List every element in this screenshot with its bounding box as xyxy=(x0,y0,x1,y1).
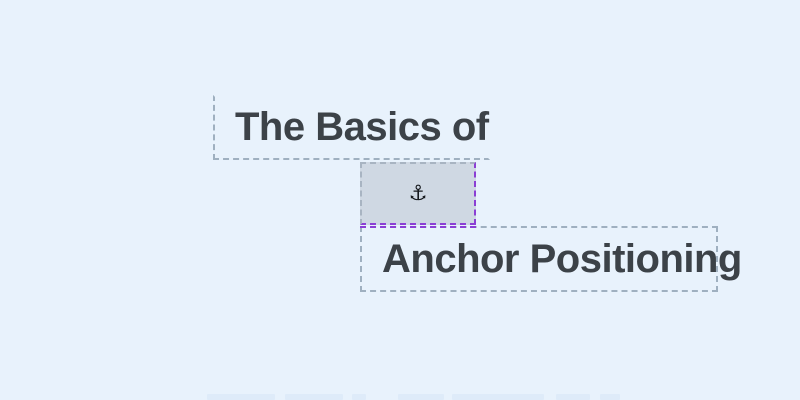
slide-canvas: The Basics of ⚓ Anchor Positioning xyxy=(0,0,800,400)
anchor-icon: ⚓ xyxy=(409,183,428,204)
title-box-bottom: Anchor Positioning xyxy=(360,226,718,292)
below-fold-ghost-content xyxy=(0,394,800,400)
ghost-text-sliver xyxy=(285,394,343,400)
ghost-text-sliver xyxy=(452,394,544,400)
ghost-text-sliver xyxy=(352,394,366,400)
anchor-element-box[interactable]: ⚓ xyxy=(360,162,476,225)
ghost-text-sliver xyxy=(207,394,275,400)
ghost-text-sliver xyxy=(600,394,620,400)
page-title-line-1: The Basics of xyxy=(215,105,489,150)
ghost-text-sliver xyxy=(556,394,590,400)
title-box-top: The Basics of xyxy=(213,95,490,160)
ghost-text-sliver xyxy=(398,394,444,400)
page-title-line-2: Anchor Positioning xyxy=(362,237,742,282)
